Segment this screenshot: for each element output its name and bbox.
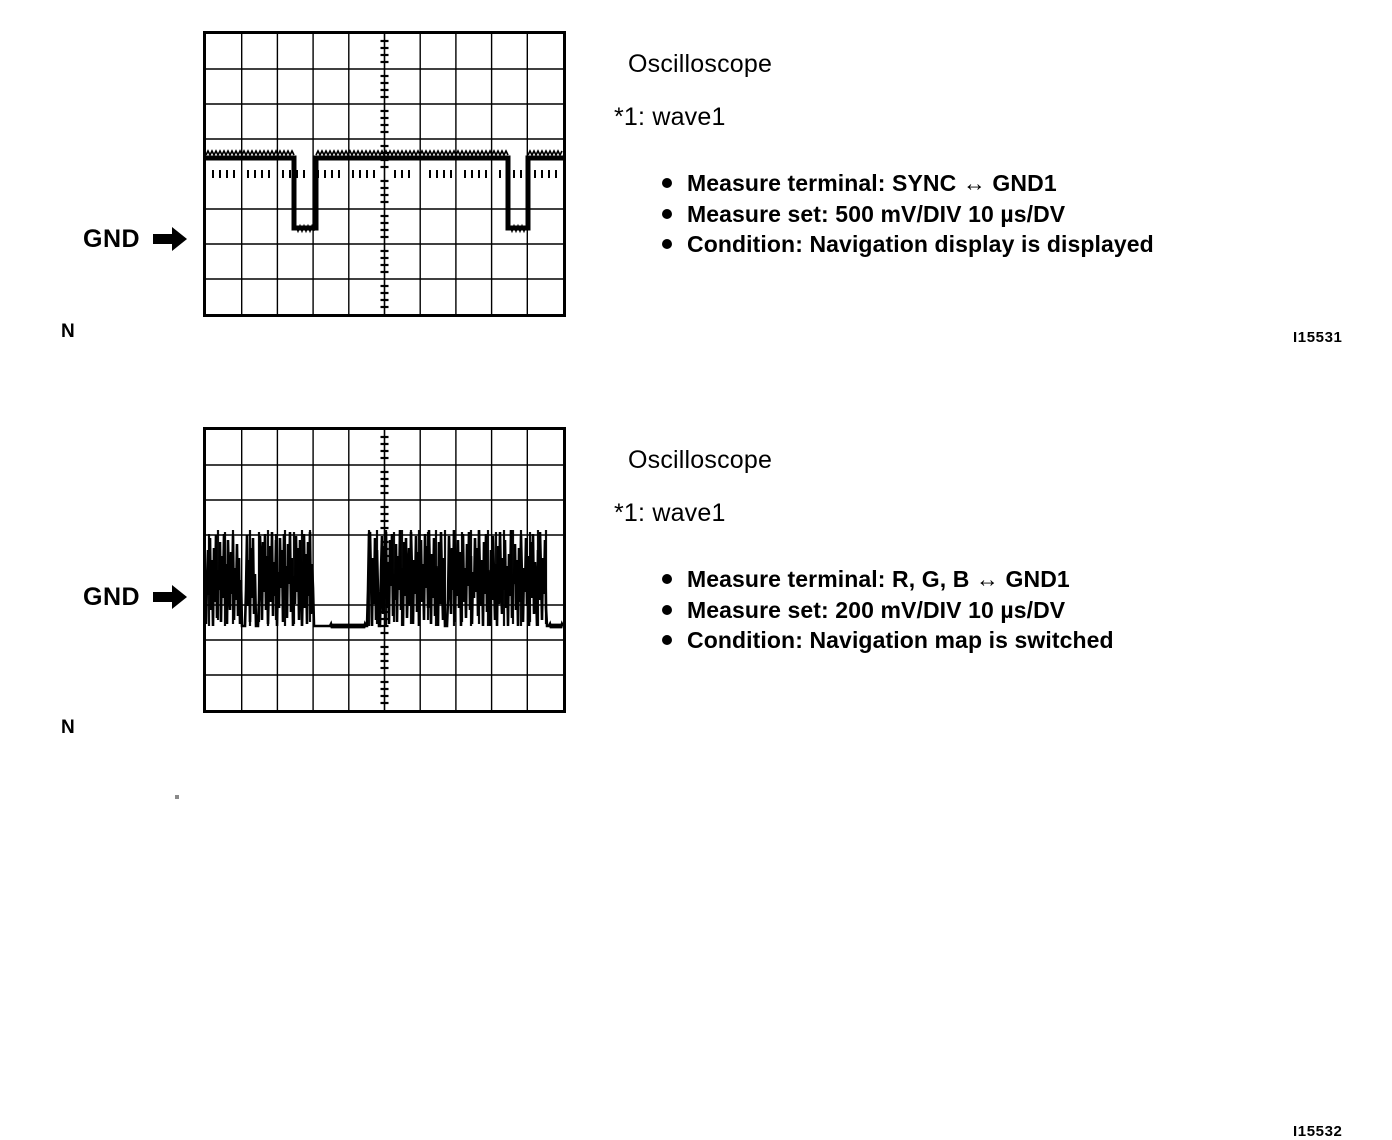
spec-text: Condition: Navigation map is switched (687, 627, 1114, 653)
instrument-title: Oscilloscope (628, 448, 1268, 473)
spec-text-block-1: Oscilloscope *1: wave1 Measure terminal:… (628, 52, 1268, 260)
waveform-figure-rgb: GND (0, 396, 1392, 766)
waveform-figure-sync: GND (0, 0, 1392, 370)
rgb-trace-density (209, 530, 546, 626)
bullet-icon (662, 178, 672, 188)
oscilloscope-screen-sync (203, 31, 566, 317)
bullet-icon (662, 209, 672, 219)
ground-label: GND (83, 585, 140, 610)
instrument-title: Oscilloscope (628, 52, 1268, 77)
arrow-right-icon (153, 226, 187, 252)
figure-note-marker-2: N (61, 718, 75, 737)
document-page: GND (0, 0, 1392, 820)
spec-list-2: Measure terminal: R, G, B ↔ GND1 Measure… (662, 564, 1268, 656)
waveform-plot-rgb (206, 430, 563, 710)
bullet-icon (662, 605, 672, 615)
spec-list-1: Measure terminal: SYNC ↔ GND1 Measure se… (662, 168, 1268, 260)
spec-item-condition: Condition: Navigation display is display… (662, 229, 1268, 260)
spec-text: Measure terminal: SYNC ↔ GND1 (687, 170, 1057, 196)
bullet-icon (662, 635, 672, 645)
figure-reference-code-1: I15531 (1293, 330, 1342, 345)
spec-text: Measure terminal: R, G, B ↔ GND1 (687, 566, 1070, 592)
figure-note-marker-1: N (61, 322, 75, 341)
bullet-icon (662, 574, 672, 584)
bullet-icon (662, 239, 672, 249)
figure-reference-code-2: I15532 (1293, 1124, 1342, 1139)
wave-note: *1: wave1 (614, 105, 1268, 130)
spec-item-measure-terminal: Measure terminal: R, G, B ↔ GND1 (662, 564, 1268, 595)
spec-text: Condition: Navigation display is display… (687, 231, 1154, 257)
ground-label: GND (83, 227, 140, 252)
scan-artifact (175, 795, 179, 799)
arrow-right-icon (153, 584, 187, 610)
ground-marker-1: GND (83, 226, 187, 252)
waveform-plot-sync (206, 34, 563, 314)
ground-marker-2: GND (83, 584, 187, 610)
oscilloscope-screen-rgb (203, 427, 566, 713)
wave-note: *1: wave1 (614, 501, 1268, 526)
spec-text-block-2: Oscilloscope *1: wave1 Measure terminal:… (628, 448, 1268, 656)
spec-item-measure-set: Measure set: 500 mV/DIV 10 µs/DV (662, 199, 1268, 230)
spec-text: Measure set: 500 mV/DIV 10 µs/DV (687, 201, 1065, 227)
spec-item-measure-set: Measure set: 200 mV/DIV 10 µs/DV (662, 595, 1268, 626)
spec-item-condition: Condition: Navigation map is switched (662, 625, 1268, 656)
spec-text: Measure set: 200 mV/DIV 10 µs/DV (687, 597, 1065, 623)
spec-item-measure-terminal: Measure terminal: SYNC ↔ GND1 (662, 168, 1268, 199)
